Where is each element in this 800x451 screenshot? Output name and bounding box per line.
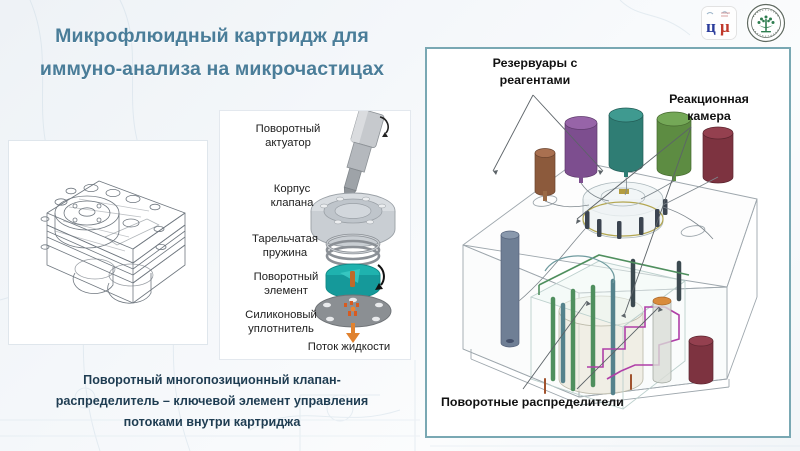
exploded-valve-diagram: Поворотный актуатор Корпус клапана Тарел… [219, 110, 411, 360]
valve-label-flow: Поток жидкости [292, 341, 406, 355]
tsm-mu-logo: ц μ [701, 6, 737, 40]
cartridge-cad-drawing [9, 141, 207, 344]
valve-label-spring: Тарельчатая пружина [234, 233, 336, 260]
valve-label-seal: Силиконовый уплотнитель [226, 309, 336, 336]
logo-group: ц μ [701, 3, 786, 43]
right-label-chamber: Реакционная камера [643, 91, 775, 124]
svg-text:μ: μ [720, 17, 730, 36]
reagent-reservoir [689, 336, 713, 384]
reagent-reservoir [565, 117, 597, 184]
svg-text:ц: ц [706, 17, 716, 36]
slide-caption: Поворотный многопозиционный клапан- расп… [6, 370, 418, 433]
reagent-reservoir [609, 108, 643, 177]
institute-seal-icon [746, 3, 786, 43]
reagent-reservoir [703, 127, 733, 183]
page-title: Микрофлюидный картридж для иммуно-анализ… [12, 20, 412, 86]
right-label-distributors: Поворотные распределители [441, 394, 691, 411]
reagent-reservoir [535, 149, 555, 202]
rotor-cylinder-left [501, 231, 519, 347]
valve-label-actuator: Поворотный актуатор [240, 123, 336, 150]
valve-label-rotary: Поворотный элемент [236, 271, 336, 298]
presentation-slide: Микрофлюидный картридж для иммуно-анализ… [0, 0, 800, 451]
tsm-mu-logo-icon: ц μ [702, 7, 736, 39]
cartridge-3d-overview: Резервуары с реагентами Реакционная каме… [425, 47, 791, 438]
institute-seal-logo [746, 3, 786, 43]
right-label-reservoirs: Резервуары с реагентами [469, 55, 601, 88]
rotary-distributor-center [583, 182, 668, 239]
cartridge-cad-wireframe [8, 140, 208, 345]
valve-label-body: Корпус клапана [248, 183, 336, 210]
